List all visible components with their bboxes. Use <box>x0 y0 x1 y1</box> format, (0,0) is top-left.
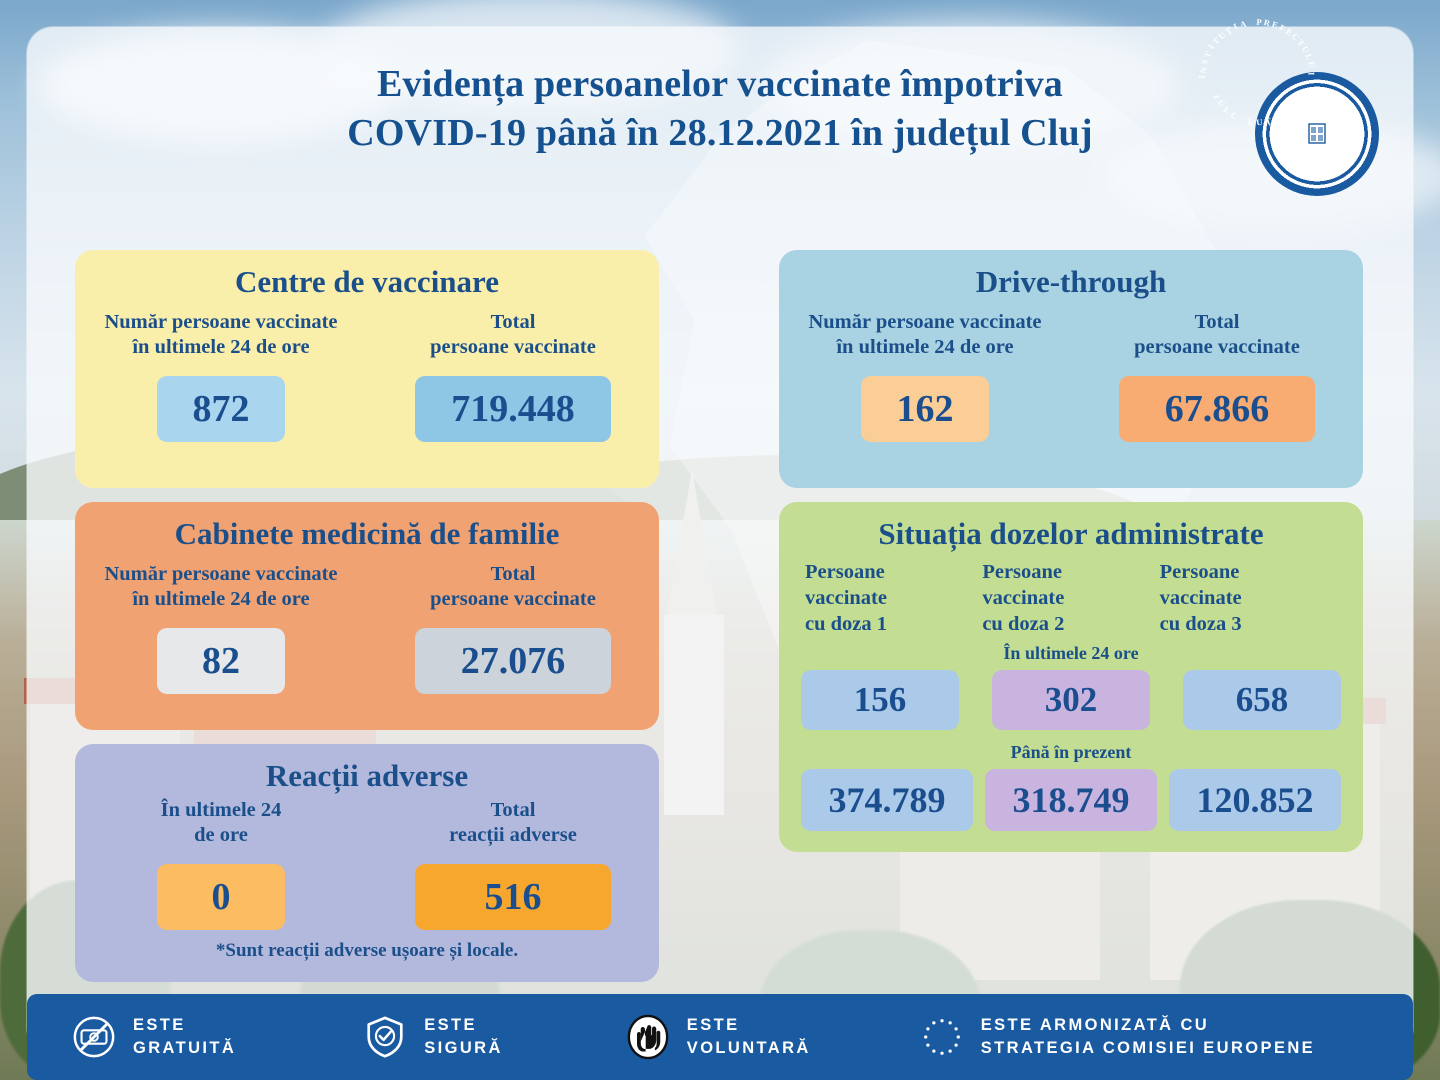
card-title: Centre de vaccinare <box>75 264 659 300</box>
footer-label-line1: Este <box>424 1014 503 1037</box>
card-title: Situația dozelor administrate <box>779 516 1363 552</box>
metric-value-24h: 0 <box>157 864 285 930</box>
metric-label-line2: în ultimele 24 de ore <box>75 587 367 612</box>
dose-label-line3: cu doza 3 <box>1160 612 1337 638</box>
metric-value-total: 516 <box>415 864 611 930</box>
metric-label-line1: Număr persoane vaccinate <box>779 310 1071 335</box>
metric-value-24h: 872 <box>157 376 285 442</box>
dose-column-header-1: Persoane vaccinate cu doza 1 <box>805 560 982 637</box>
dose-values-24h-row: 156 302 658 <box>779 670 1363 730</box>
dose1-value-total: 374.789 <box>801 769 973 831</box>
metric-label-line2: în ultimele 24 de ore <box>779 335 1071 360</box>
metric-label-line1: Total <box>367 310 659 335</box>
footer-item-free: Este Gratuită <box>71 1014 236 1060</box>
dose-label-line3: cu doza 2 <box>982 612 1159 638</box>
dose2-value-total: 318.749 <box>985 769 1157 831</box>
metric-label-line2: persoane vaccinate <box>367 335 659 360</box>
dose2-value-24h: 302 <box>992 670 1150 730</box>
dose-column-header-3: Persoane vaccinate cu doza 3 <box>1160 560 1337 637</box>
metric-24h: Număr persoane vaccinate în ultimele 24 … <box>75 310 367 442</box>
metric-value-total: 27.076 <box>415 628 611 694</box>
dose3-value-24h: 658 <box>1183 670 1341 730</box>
dose-label-line1: Persoane <box>805 560 982 586</box>
metric-label-line1: Număr persoane vaccinate <box>75 562 367 587</box>
footer-label-line2: Voluntară <box>687 1037 811 1060</box>
adverse-note: *Sunt reacții adverse ușoare și locale. <box>75 940 659 962</box>
footer-label-line1: Este <box>687 1014 811 1037</box>
dose-label-line2: vaccinate <box>1160 586 1337 612</box>
footer-item-label: Este Gratuită <box>133 1014 236 1060</box>
metric-label-line2: în ultimele 24 de ore <box>75 335 367 360</box>
card-family-medicine: Cabinete medicină de familie Număr perso… <box>75 502 659 730</box>
label-last-24h: În ultimele 24 ore <box>779 643 1363 664</box>
metric-total: Total persoane vaccinate 719.448 <box>367 310 659 442</box>
prefecture-logo: INSTITUȚIA PREFECTULUIJUDEȚUL CLUJ <box>1255 72 1379 196</box>
footer-label-line1: Este armonizată cu <box>981 1014 1315 1037</box>
footer-label-line2: Gratuită <box>133 1037 236 1060</box>
metric-label-line2: persoane vaccinate <box>367 587 659 612</box>
dose3-value-total: 120.852 <box>1169 769 1341 831</box>
footer-label-line2: Strategia Comisiei Europene <box>981 1037 1315 1060</box>
metric-value-24h: 82 <box>157 628 285 694</box>
dose-label-line1: Persoane <box>1160 560 1337 586</box>
dose-values-todate-row: 374.789 318.749 120.852 <box>779 769 1363 831</box>
footer-bar: Este Gratuită Este Sigură Este Voluntară <box>27 994 1413 1080</box>
dose-label-line1: Persoane <box>982 560 1159 586</box>
metric-value-total: 67.866 <box>1119 376 1315 442</box>
page-title-line2: COVID-19 până în 28.12.2021 în județul C… <box>27 109 1413 158</box>
label-to-date: Până în prezent <box>779 742 1363 763</box>
footer-item-label: Este armonizată cu Strategia Comisiei Eu… <box>981 1014 1315 1060</box>
metric-label-line1: Număr persoane vaccinate <box>75 310 367 335</box>
seal-text: INSTITUȚIA PREFECTULUIJUDEȚUL CLUJ <box>1255 72 1379 196</box>
metric-total: Total reacții adverse 516 <box>367 798 659 930</box>
card-title: Cabinete medicină de familie <box>75 516 659 552</box>
metric-label-line2: persoane vaccinate <box>1071 335 1363 360</box>
footer-label-line2: Sigură <box>424 1037 503 1060</box>
metric-label-line1: Total <box>1071 310 1363 335</box>
header: Evidența persoanelor vaccinate împotriva… <box>27 60 1413 159</box>
metric-label-line1: Total <box>367 798 659 823</box>
raised-hands-icon <box>625 1014 671 1060</box>
metric-total: Total persoane vaccinate 67.866 <box>1071 310 1363 442</box>
metric-total: Total persoane vaccinate 27.076 <box>367 562 659 694</box>
footer-item-eu-strategy: Este armonizată cu Strategia Comisiei Eu… <box>919 1014 1315 1060</box>
footer-item-label: Este Voluntară <box>687 1014 811 1060</box>
dose1-value-24h: 156 <box>801 670 959 730</box>
metric-24h: Număr persoane vaccinate în ultimele 24 … <box>779 310 1071 442</box>
shield-check-icon <box>362 1014 408 1060</box>
card-title: Drive-through <box>779 264 1363 300</box>
footer-item-label: Este Sigură <box>424 1014 503 1060</box>
metric-24h: Număr persoane vaccinate în ultimele 24 … <box>75 562 367 694</box>
metric-value-total: 719.448 <box>415 376 611 442</box>
metric-value-24h: 162 <box>861 376 989 442</box>
dose-label-line2: vaccinate <box>982 586 1159 612</box>
card-doses-administered: Situația dozelor administrate Persoane v… <box>779 502 1363 852</box>
metric-label-line2: reacții adverse <box>367 823 659 848</box>
card-title: Reacții adverse <box>75 758 659 794</box>
card-vaccination-centres: Centre de vaccinare Număr persoane vacci… <box>75 250 659 488</box>
dose-label-line3: cu doza 1 <box>805 612 982 638</box>
metric-24h: În ultimele 24 de ore 0 <box>75 798 367 930</box>
no-money-banknote-icon <box>71 1014 117 1060</box>
dose-label-line2: vaccinate <box>805 586 982 612</box>
metric-label-line2: de ore <box>75 823 367 848</box>
metric-label-line1: Total <box>367 562 659 587</box>
card-adverse-reactions: Reacții adverse În ultimele 24 de ore 0 … <box>75 744 659 982</box>
footer-item-voluntary: Este Voluntară <box>625 1014 811 1060</box>
footer-label-line1: Este <box>133 1014 236 1037</box>
footer-item-safe: Este Sigură <box>362 1014 503 1060</box>
metric-label-line1: În ultimele 24 <box>75 798 367 823</box>
eu-stars-icon <box>919 1014 965 1060</box>
dose-column-header-2: Persoane vaccinate cu doza 2 <box>982 560 1159 637</box>
card-drive-through: Drive-through Număr persoane vaccinate î… <box>779 250 1363 488</box>
